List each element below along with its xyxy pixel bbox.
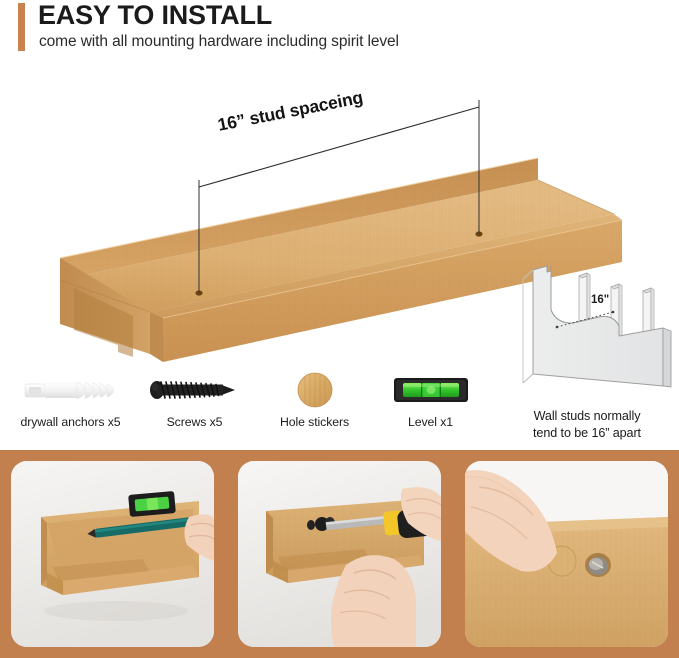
header: EASY TO INSTALL come with all mounting h… — [0, 0, 679, 62]
page-subtitle: come with all mounting hardware includin… — [39, 33, 399, 51]
drywall-anchor-icon — [19, 368, 123, 412]
drywall-edge — [663, 328, 671, 387]
stud-diagram-svg — [495, 250, 679, 410]
accessory-hole-stickers: Hole stickers — [252, 368, 377, 446]
stud-spacing-dimension: 16" — [591, 294, 609, 306]
accessory-label: Hole stickers — [280, 415, 349, 429]
screw-hole — [585, 553, 611, 577]
shelf-lip-end — [150, 312, 163, 362]
step1-scene — [11, 461, 214, 647]
spirit-level-in-photo — [128, 491, 176, 517]
install-steps-strip — [0, 450, 679, 658]
install-step-photo-2[interactable] — [238, 461, 441, 647]
accessory-drywall-anchors: drywall anchors x5 — [8, 368, 133, 446]
accessory-level: Level x1 — [368, 368, 493, 446]
install-step-photo-3[interactable] — [465, 461, 668, 647]
step3-scene — [465, 461, 668, 647]
accessory-label: drywall anchors x5 — [20, 415, 120, 429]
spirit-level-icon — [392, 368, 470, 412]
accessory-screws: Screws x5 — [132, 368, 257, 446]
step2-scene — [238, 461, 441, 647]
install-step-photo-1[interactable] — [11, 461, 214, 647]
hole-sticker-icon — [293, 368, 337, 412]
accessory-label: Level x1 — [408, 415, 453, 429]
stud-diagram-caption: Wall studs normally tend to be 16” apart — [495, 408, 679, 442]
page-title: EASY TO INSTALL — [38, 0, 272, 30]
caption-line-2: tend to be 16” apart — [533, 426, 641, 440]
accent-bar — [18, 3, 25, 51]
wall-stud-diagram: 16" Wall studs normally tend to be 16” a… — [495, 250, 679, 450]
caption-line-1: Wall studs normally — [534, 409, 641, 423]
accessory-label: Screws x5 — [167, 415, 223, 429]
accessories-row: drywall anchors x5 Screws x5 — [0, 368, 500, 446]
infographic-page: EASY TO INSTALL come with all mounting h… — [0, 0, 679, 658]
screw-icon — [143, 368, 247, 412]
